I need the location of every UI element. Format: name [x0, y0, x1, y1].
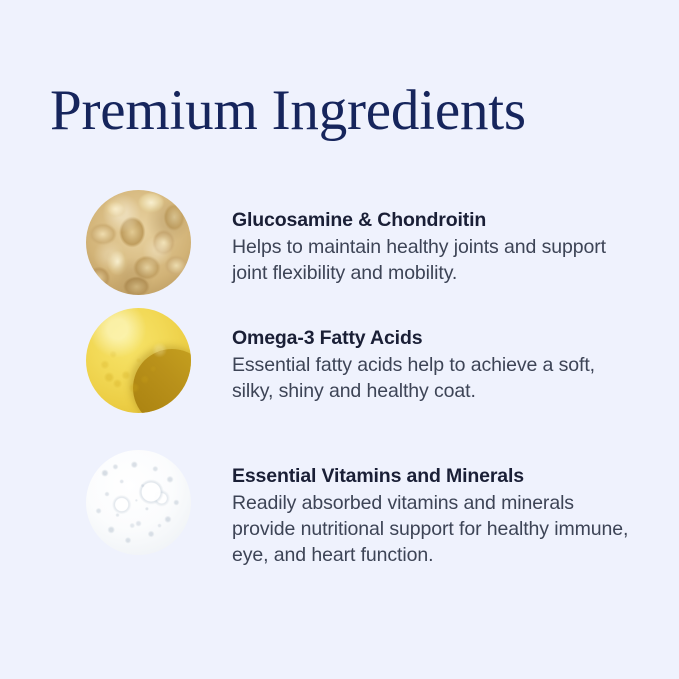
resin-granules-swatch-icon — [86, 190, 191, 295]
ingredient-text-block: Glucosamine & Chondroitin Helps to maint… — [232, 190, 632, 286]
ingredient-name: Essential Vitamins and Minerals — [232, 464, 632, 489]
list-item: Glucosamine & Chondroitin Helps to maint… — [86, 190, 646, 295]
clear-gel-bubbles-swatch-icon — [86, 450, 191, 555]
ingredient-description: Readily absorbed vitamins and minerals p… — [232, 490, 632, 568]
golden-oil-droplet-swatch-icon — [86, 308, 191, 413]
ingredient-name: Glucosamine & Chondroitin — [232, 208, 632, 233]
ingredient-name: Omega-3 Fatty Acids — [232, 326, 632, 351]
ingredient-text-block: Omega-3 Fatty Acids Essential fatty acid… — [232, 308, 632, 404]
list-item: Essential Vitamins and Minerals Readily … — [86, 450, 646, 568]
ingredient-text-block: Essential Vitamins and Minerals Readily … — [232, 450, 632, 568]
premium-ingredients-panel: Premium Ingredients Glucosamine & Chondr… — [0, 0, 679, 679]
page-title: Premium Ingredients — [50, 78, 526, 143]
ingredient-description: Essential fatty acids help to achieve a … — [232, 352, 632, 404]
ingredient-description: Helps to maintain healthy joints and sup… — [232, 234, 632, 286]
list-item: Omega-3 Fatty Acids Essential fatty acid… — [86, 308, 646, 413]
